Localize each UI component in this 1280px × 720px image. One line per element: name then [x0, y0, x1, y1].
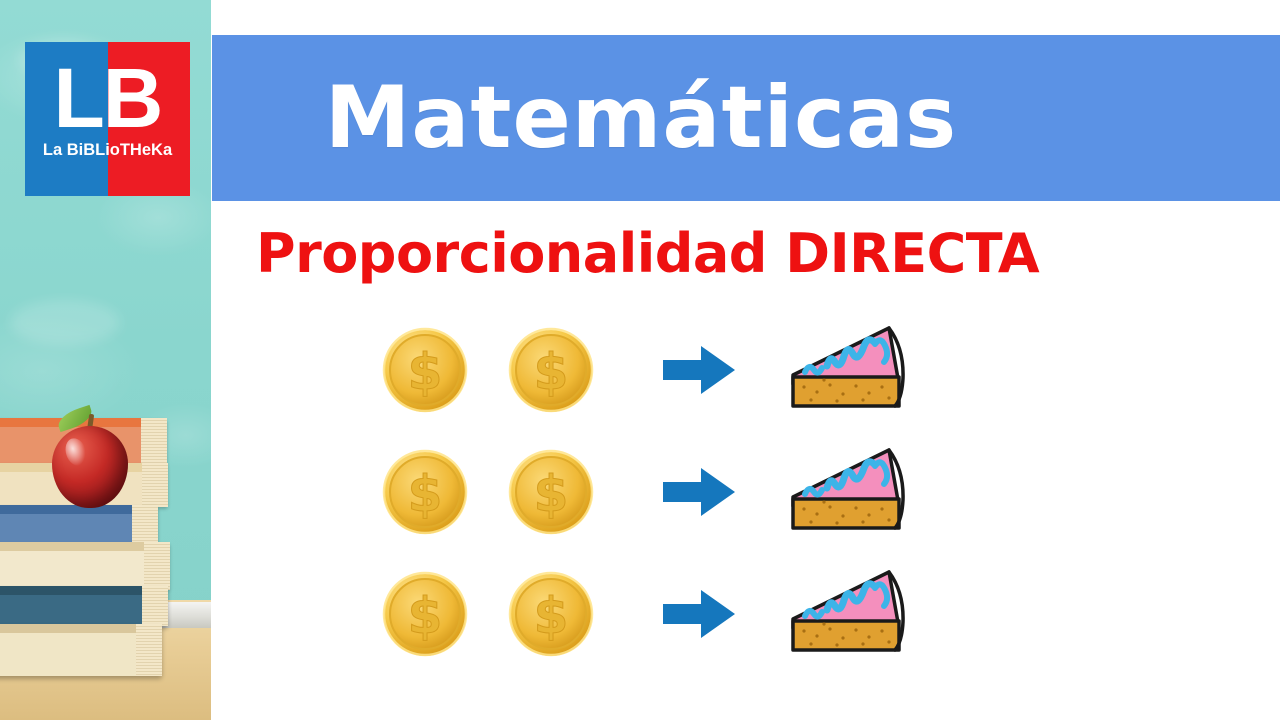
subtitle-heading: Proporcionalidad DIRECTA [256, 222, 1039, 285]
cake-slice-icon [777, 566, 917, 662]
coin-icon: $ [380, 325, 470, 415]
svg-text:$: $ [534, 343, 569, 401]
book [0, 542, 170, 590]
svg-text:$: $ [408, 587, 443, 645]
coin-icon: $ [380, 569, 470, 659]
page-title: Matemáticas [325, 75, 957, 161]
proportion-row: $ $ [380, 322, 920, 418]
sidebar-photo-strip: LB La BiBLioTHeKa [0, 0, 211, 720]
right-arrow-icon [661, 342, 739, 398]
brand-logo[interactable]: LB La BiBLioTHeKa [25, 42, 190, 196]
logo-initials: LB [25, 56, 190, 140]
coin-icon: $ [506, 569, 596, 659]
coin-group: $ $ [380, 325, 627, 415]
title-banner: Matemáticas [212, 35, 1280, 201]
book [0, 505, 158, 545]
svg-text:$: $ [534, 587, 569, 645]
svg-text:$: $ [408, 343, 443, 401]
proportion-row: $ $ [380, 566, 920, 662]
book [0, 624, 162, 676]
chalk-smudge [10, 300, 120, 345]
arrow-cell [627, 586, 774, 642]
svg-text:$: $ [534, 465, 569, 523]
right-arrow-icon [661, 586, 739, 642]
coin-group: $ $ [380, 569, 627, 659]
proportion-row: $ $ [380, 444, 920, 540]
coin-icon: $ [506, 447, 596, 537]
cake-cell [773, 322, 920, 418]
logo-wordmark: La BiBLioTHeKa [25, 141, 190, 160]
apple-icon [52, 426, 128, 508]
right-arrow-icon [661, 464, 739, 520]
coin-icon: $ [380, 447, 470, 537]
book [0, 586, 168, 626]
cake-slice-icon [777, 322, 917, 418]
slide-canvas: LB La BiBLioTHeKa Matemáticas Proporcion… [0, 0, 1280, 720]
proportionality-diagram: $ $ [380, 322, 920, 662]
svg-text:$: $ [408, 465, 443, 523]
cake-slice-icon [777, 444, 917, 540]
arrow-cell [627, 342, 774, 398]
cake-cell [773, 566, 920, 662]
arrow-cell [627, 464, 774, 520]
coin-group: $ $ [380, 447, 627, 537]
cake-cell [773, 444, 920, 540]
coin-icon: $ [506, 325, 596, 415]
